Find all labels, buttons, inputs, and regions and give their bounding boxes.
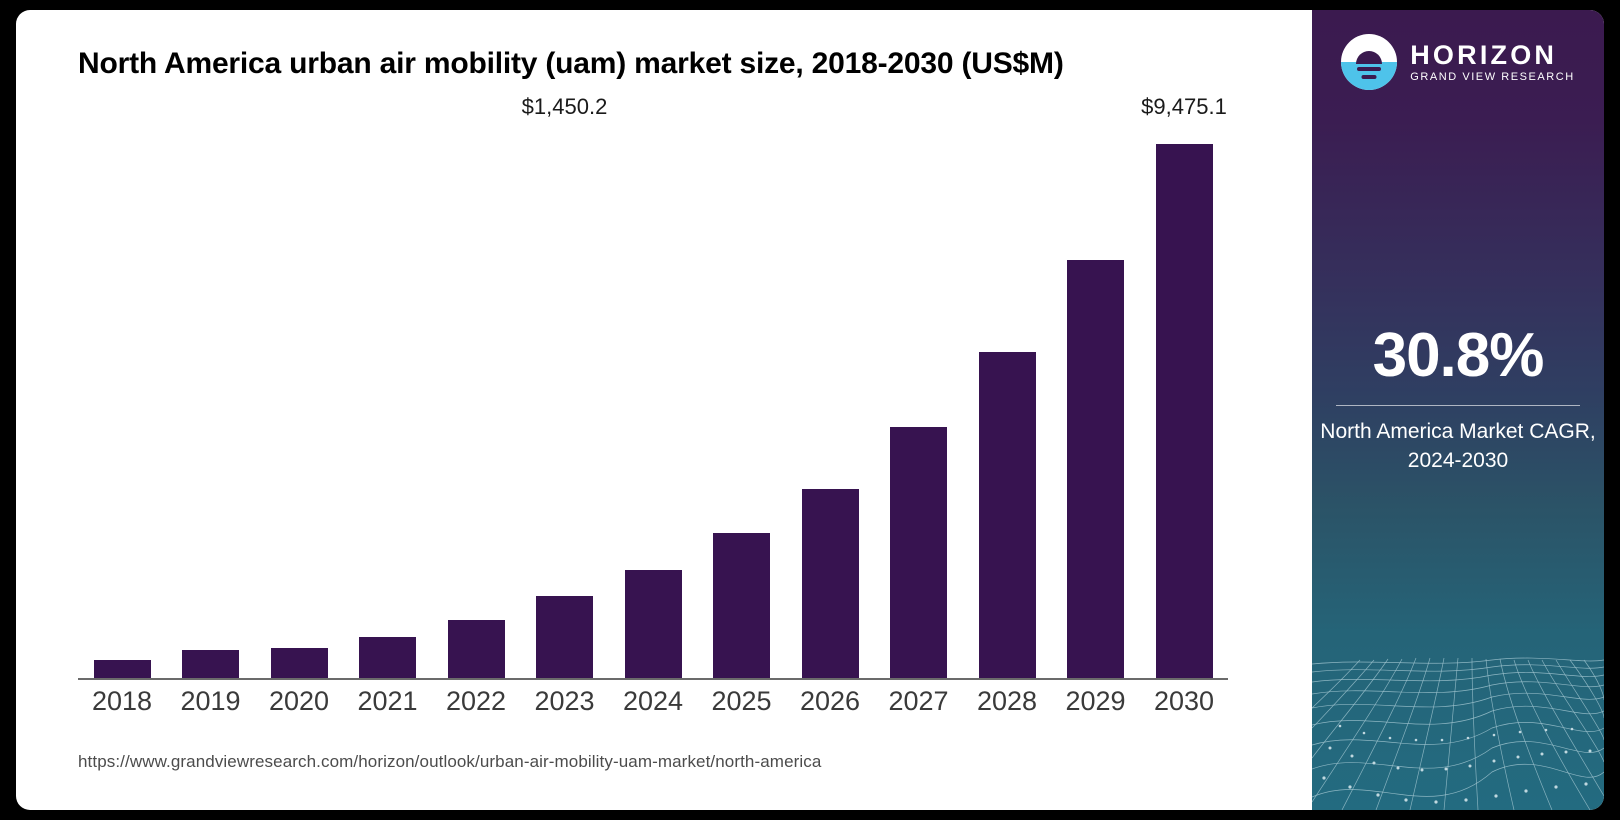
x-tick-2018: 2018	[78, 686, 166, 717]
bar-slot	[167, 130, 255, 678]
panel-divider	[1336, 405, 1580, 406]
bar-2026[interactable]	[802, 489, 859, 678]
bar-slot	[786, 130, 874, 678]
bar-value-label-2030: $9,475.1	[1141, 94, 1227, 120]
bar-slot	[875, 130, 963, 678]
bar-slot	[255, 130, 343, 678]
screenshot-root: North America urban air mobility (uam) m…	[0, 0, 1620, 820]
x-axis-line	[78, 678, 1228, 680]
x-tick-2026: 2026	[786, 686, 874, 717]
chart-pane: North America urban air mobility (uam) m…	[16, 10, 1296, 810]
bar-2029[interactable]	[1067, 260, 1124, 678]
branding-panel: HORIZON GRAND VIEW RESEARCH 30.8% North …	[1312, 10, 1604, 810]
logo-dome-shape	[1356, 51, 1382, 64]
plot-area: $1,450.2$9,475.1	[78, 130, 1228, 680]
bar-series: $1,450.2$9,475.1	[78, 130, 1228, 678]
logo-bar-lower	[1362, 75, 1377, 79]
bar-2027[interactable]	[890, 427, 947, 678]
bar-2024[interactable]	[625, 570, 682, 678]
chart-card: North America urban air mobility (uam) m…	[16, 10, 1604, 810]
source-url[interactable]: https://www.grandviewresearch.com/horizo…	[78, 752, 821, 772]
bar-slot	[1052, 130, 1140, 678]
x-tick-2025: 2025	[698, 686, 786, 717]
x-tick-2029: 2029	[1052, 686, 1140, 717]
x-tick-2024: 2024	[609, 686, 697, 717]
cagr-caption: North America Market CAGR, 2024-2030	[1312, 418, 1604, 476]
horizon-logo: HORIZON GRAND VIEW RESEARCH	[1312, 34, 1604, 90]
bar-slot: $1,450.2	[521, 130, 609, 678]
bar-slot	[963, 130, 1051, 678]
bar-slot	[78, 130, 166, 678]
cagr-value: 30.8%	[1312, 320, 1604, 391]
bar-2022[interactable]	[448, 620, 505, 678]
bar-slot	[698, 130, 786, 678]
chart-title: North America urban air mobility (uam) m…	[78, 43, 1078, 86]
horizon-logo-text: HORIZON GRAND VIEW RESEARCH	[1410, 42, 1575, 83]
bar-slot: $9,475.1	[1140, 130, 1228, 678]
x-tick-2028: 2028	[963, 686, 1051, 717]
bar-2019[interactable]	[182, 650, 239, 678]
x-tick-2022: 2022	[432, 686, 520, 717]
bar-slot	[432, 130, 520, 678]
x-axis-tick-labels: 2018201920202021202220232024202520262027…	[78, 686, 1228, 717]
logo-tagline: GRAND VIEW RESEARCH	[1410, 72, 1575, 83]
bar-2028[interactable]	[979, 352, 1036, 678]
x-tick-2023: 2023	[521, 686, 609, 717]
wireframe-mesh-graphic	[1312, 630, 1604, 810]
bar-2025[interactable]	[713, 533, 770, 678]
x-tick-2019: 2019	[167, 686, 255, 717]
logo-bar-upper	[1357, 67, 1381, 71]
bar-slot	[609, 130, 697, 678]
x-tick-2030: 2030	[1140, 686, 1228, 717]
bar-slot	[344, 130, 432, 678]
x-tick-2027: 2027	[875, 686, 963, 717]
x-tick-2021: 2021	[344, 686, 432, 717]
x-tick-2020: 2020	[255, 686, 343, 717]
bar-2021[interactable]	[359, 637, 416, 678]
bar-value-label-2023: $1,450.2	[522, 94, 608, 120]
bar-2018[interactable]	[94, 660, 151, 678]
bar-2020[interactable]	[271, 648, 328, 678]
logo-wordmark: HORIZON	[1410, 42, 1575, 69]
bar-2030[interactable]	[1156, 144, 1213, 678]
bar-2023[interactable]	[536, 596, 593, 678]
horizon-logo-icon	[1341, 34, 1397, 90]
